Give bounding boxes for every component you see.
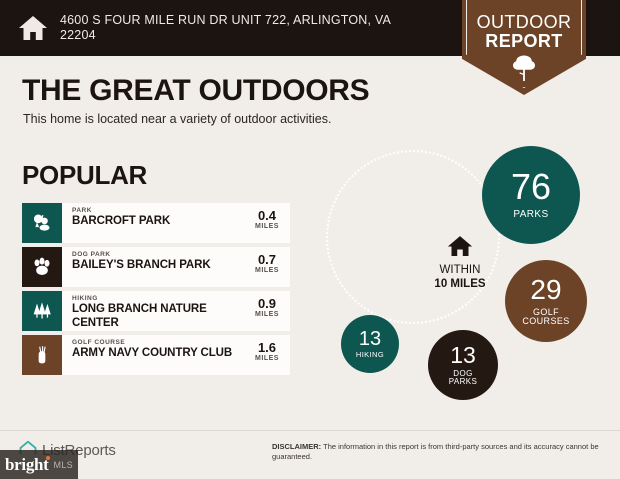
page-subtitle: This home is located near a variety of o… (23, 112, 331, 126)
disclaimer-text: The information in this report is from t… (272, 442, 599, 461)
list-item-category: DOG PARK (72, 251, 240, 259)
paw-icon (22, 247, 62, 287)
stat-value: 13 (359, 329, 381, 349)
list-item[interactable]: GOLF COURSE ARMY NAVY COUNTRY CLUB 1.6 M… (22, 335, 290, 375)
watermark-accent-dot (46, 456, 50, 460)
list-item[interactable]: PARK BARCROFT PARK 0.4 MILES (22, 203, 290, 243)
list-item-name: LONG BRANCH NATURE CENTER (72, 303, 240, 330)
tree-icon (512, 54, 536, 82)
outdoor-report-page: 4600 S FOUR MILE RUN DR UNIT 722, ARLING… (0, 0, 620, 479)
outdoor-report-badge: OUTDOOR REPORT (462, 0, 586, 95)
disclaimer: DISCLAIMER: The information in this repo… (272, 442, 602, 462)
stat-bubble-dog-parks[interactable]: 13 DOG PARKS (428, 330, 498, 400)
park-tree-icon (22, 203, 62, 243)
stat-value: 76 (511, 169, 551, 205)
stat-label-line2: COURSES (522, 316, 569, 326)
stat-value: 13 (450, 344, 476, 367)
badge-line-2: REPORT (462, 31, 586, 52)
list-item-unit: MILES (244, 355, 290, 362)
stat-label: DOG PARKS (449, 370, 478, 387)
list-item-distance: 0.9 (244, 297, 290, 311)
list-item-unit: MILES (244, 267, 290, 274)
stat-label: HIKING (356, 351, 384, 359)
bright-mls-watermark: bright MLS (0, 450, 78, 479)
within-line-1: WITHIN (410, 263, 510, 277)
page-title: THE GREAT OUTDOORS (22, 74, 369, 108)
disclaimer-label: DISCLAIMER: (272, 442, 321, 451)
watermark-brand: bright (5, 455, 49, 475)
stat-label: PARKS (513, 210, 548, 221)
stat-bubble-parks[interactable]: 76 PARKS (482, 146, 580, 244)
list-item-distance: 0.7 (244, 253, 290, 267)
within-miles-value: 10 MILES (434, 278, 485, 290)
list-item-distance: 1.6 (244, 341, 290, 355)
golf-bag-icon (22, 335, 62, 375)
chart-center-label: WITHIN 10 MILES (410, 235, 510, 291)
list-item-name: ARMY NAVY COUNTRY CLUB (72, 347, 240, 361)
list-item-unit: MILES (244, 223, 290, 230)
property-address: 4600 S FOUR MILE RUN DR UNIT 722, ARLING… (60, 13, 415, 43)
list-item-name: BARCROFT PARK (72, 215, 240, 229)
popular-list: PARK BARCROFT PARK 0.4 MILES DOG PARK BA… (22, 203, 290, 378)
stat-bubble-hiking[interactable]: 13 HIKING (341, 315, 399, 373)
list-item-unit: MILES (244, 311, 290, 318)
list-item[interactable]: DOG PARK BAILEY'S BRANCH PARK 0.7 MILES (22, 247, 290, 287)
list-item[interactable]: HIKING LONG BRANCH NATURE CENTER 0.9 MIL… (22, 291, 290, 331)
stats-bubble-chart: 76 PARKS 29 GOLF COURSES 13 DOG PARKS 13… (310, 140, 610, 410)
home-icon (18, 14, 48, 42)
list-item-name: BAILEY'S BRANCH PARK (72, 259, 240, 273)
list-item-category: PARK (72, 207, 240, 215)
stat-bubble-golf-courses[interactable]: 29 GOLF COURSES (505, 260, 587, 342)
pine-trees-icon (22, 291, 62, 331)
watermark-mls-text: MLS (54, 460, 73, 470)
stat-label: GOLF COURSES (522, 308, 569, 327)
list-item-category: GOLF COURSE (72, 339, 240, 347)
list-item-category: HIKING (72, 295, 240, 303)
watermark-brand-text: bright (5, 455, 49, 474)
stat-value: 29 (530, 276, 561, 304)
badge-line-1: OUTDOOR (462, 12, 586, 33)
home-icon (410, 235, 510, 258)
within-line-2: 10 MILES (410, 277, 510, 291)
popular-heading: POPULAR (22, 160, 147, 191)
footer-divider (0, 430, 620, 431)
list-item-distance: 0.4 (244, 209, 290, 223)
stat-label-line2: PARKS (449, 377, 478, 386)
